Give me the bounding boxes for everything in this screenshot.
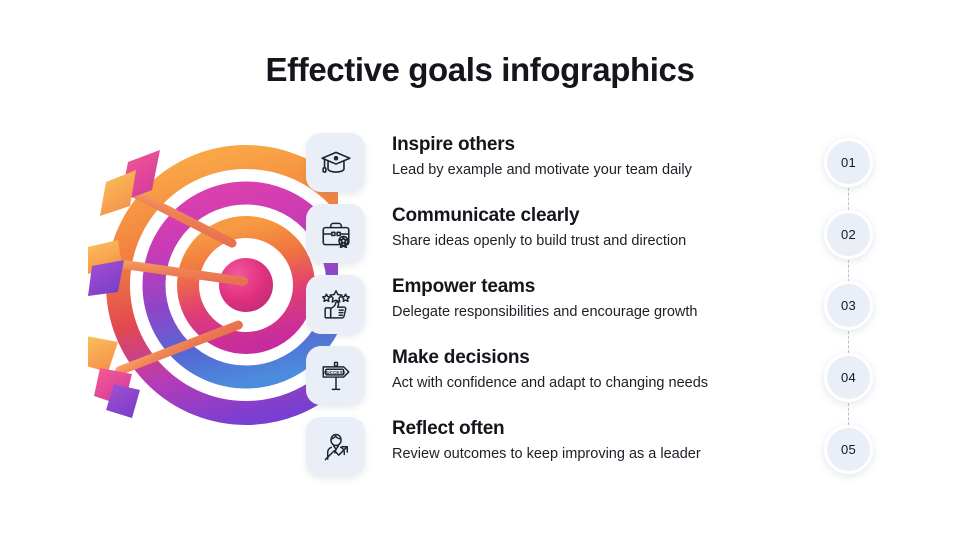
item-description: Act with confidence and adapt to changin… [392, 373, 708, 395]
step-node-05[interactable]: 05 [824, 425, 873, 474]
item-text-block: Empower teams Delegate responsibilities … [392, 274, 698, 323]
item-heading: Communicate clearly [392, 203, 686, 229]
item-description: Delegate responsibilities and encourage … [392, 302, 698, 324]
step-number-badge: 03 [824, 281, 873, 330]
step-number-badge: 02 [824, 210, 873, 259]
graduation-cap-icon [306, 133, 365, 192]
target-with-arrows-illustration [88, 140, 338, 430]
thumbs-up-stars-icon [306, 275, 365, 334]
step-node-04[interactable]: 04 [824, 353, 873, 402]
item-description: Share ideas openly to build trust and di… [392, 231, 686, 253]
step-number-badge: 04 [824, 353, 873, 402]
item-text-block: Make decisions Act with confidence and a… [392, 345, 708, 394]
person-growth-arrow-icon [306, 417, 365, 476]
item-heading: Reflect often [392, 416, 701, 442]
step-connector [848, 403, 849, 425]
slide-canvas: Effective goals infographics [0, 0, 960, 540]
item-text-block: Inspire others Lead by example and motiv… [392, 132, 692, 181]
step-number-badge: 05 [824, 425, 873, 474]
briefcase-award-icon [306, 204, 365, 263]
step-connector [848, 260, 849, 282]
item-heading: Inspire others [392, 132, 692, 158]
step-node-01[interactable]: 01 [824, 138, 873, 187]
step-connector [848, 331, 849, 353]
step-node-03[interactable]: 03 [824, 281, 873, 330]
success-signpost-icon: SUCCESS [306, 346, 365, 405]
item-heading: Make decisions [392, 345, 708, 371]
item-text-block: Reflect often Review outcomes to keep im… [392, 416, 701, 465]
step-number-badge: 01 [824, 138, 873, 187]
step-connector [848, 188, 849, 210]
signpost-label: SUCCESS [323, 369, 345, 374]
step-number-rail: 01 02 03 04 05 [824, 138, 874, 474]
item-text-block: Communicate clearly Share ideas openly t… [392, 203, 686, 252]
page-title: Effective goals infographics [0, 52, 960, 88]
item-description: Review outcomes to keep improving as a l… [392, 444, 701, 466]
item-heading: Empower teams [392, 274, 698, 300]
item-description: Lead by example and motivate your team d… [392, 160, 692, 182]
step-node-02[interactable]: 02 [824, 210, 873, 259]
